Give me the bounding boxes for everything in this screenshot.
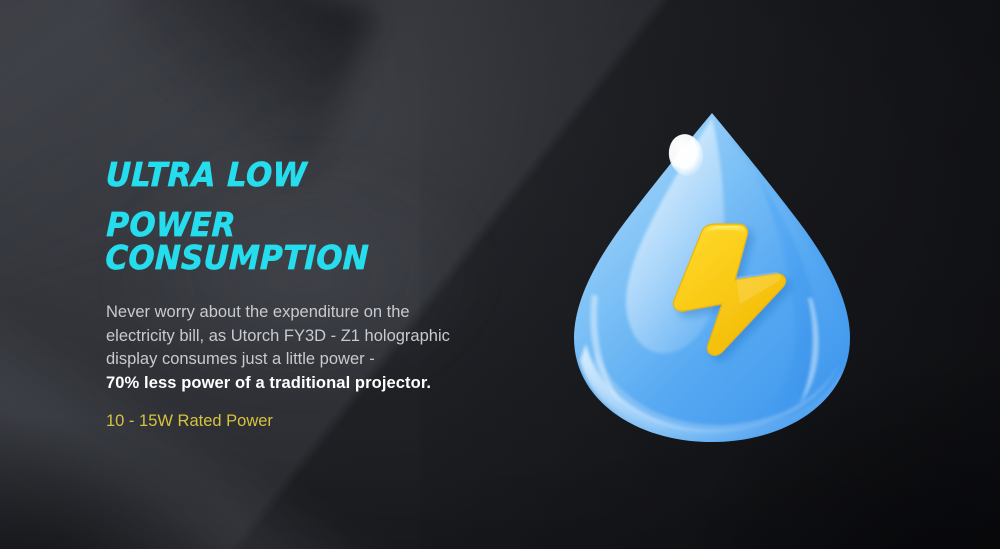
headline-line-2: POWER CONSUMPTION [105,208,498,274]
body-line-4-emphasis: 70% less power of a traditional projecto… [106,372,526,396]
rated-power-spec: 10 - 15W Rated Power [106,410,526,432]
copy-block: ULTRA LOW POWER CONSUMPTION Never worry … [106,158,526,432]
droplet-artwork [562,98,872,454]
body-copy: Never worry about the expenditure on the… [106,301,526,395]
body-line-1: Never worry about the expenditure on the [106,301,526,325]
headline-line-1: ULTRA LOW [105,158,497,191]
body-line-2: electricity bill, as Utorch FY3D - Z1 ho… [106,325,526,349]
promo-banner: ULTRA LOW POWER CONSUMPTION Never worry … [0,0,1000,549]
body-line-3: display consumes just a little power - [106,348,526,372]
headline: ULTRA LOW POWER CONSUMPTION [106,158,526,274]
